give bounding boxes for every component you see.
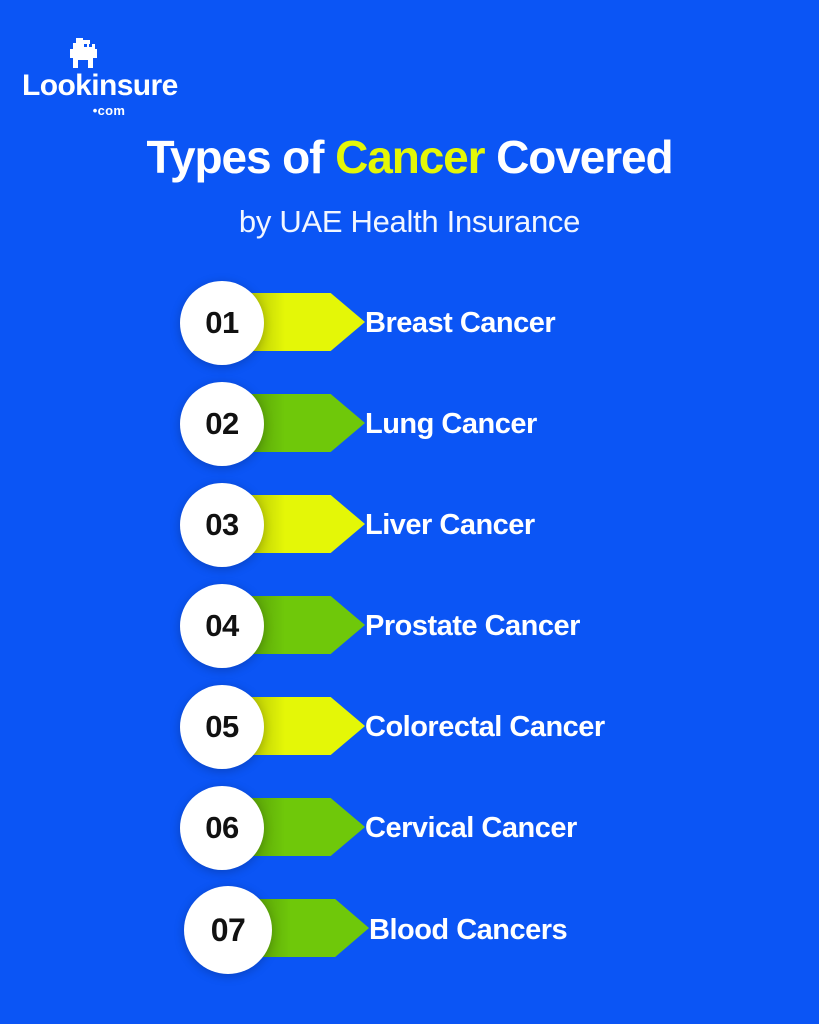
title-part-1: Types of [146,131,335,183]
title-part-2: Covered [484,131,672,183]
brand-logo[interactable]: Lookinsure •com [22,36,202,117]
list-item-label: Liver Cancer [365,483,535,567]
list-item-label: Colorectal Cancer [365,685,605,769]
step-number-badge: 04 [180,584,264,668]
list-item-label: Blood Cancers [369,887,567,973]
list-item[interactable]: 04 Prostate Cancer [0,584,819,685]
list-item-label: Lung Cancer [365,382,537,466]
list-item[interactable]: 01 Breast Cancer [0,281,819,382]
lookinsure-dog-mark-icon [64,36,106,70]
list-item-label: Cervical Cancer [365,786,577,870]
cancer-types-list: 01 Breast Cancer 02 Lung Cancer 03 Liver… [0,281,819,991]
step-number-badge: 03 [180,483,264,567]
list-item[interactable]: 06 Cervical Cancer [0,786,819,887]
list-item-label: Breast Cancer [365,281,555,365]
step-number-badge: 01 [180,281,264,365]
brand-wordmark: Lookinsure [22,71,202,101]
step-number-badge: 06 [180,786,264,870]
list-item[interactable]: 02 Lung Cancer [0,382,819,483]
page-subtitle: by UAE Health Insurance [0,203,819,240]
brand-dotcom: •com [22,104,202,117]
list-item[interactable]: 07 Blood Cancers [0,887,819,991]
page-title: Types of Cancer Covered [0,132,819,184]
step-number-badge: 02 [180,382,264,466]
step-number-badge: 05 [180,685,264,769]
title-highlight-cancer: Cancer [335,131,484,183]
list-item-label: Prostate Cancer [365,584,580,668]
step-number-badge: 07 [184,886,272,974]
list-item[interactable]: 03 Liver Cancer [0,483,819,584]
list-item[interactable]: 05 Colorectal Cancer [0,685,819,786]
infographic-page: { "brand": { "logo_icon": "lookinsure-do… [0,0,819,1024]
